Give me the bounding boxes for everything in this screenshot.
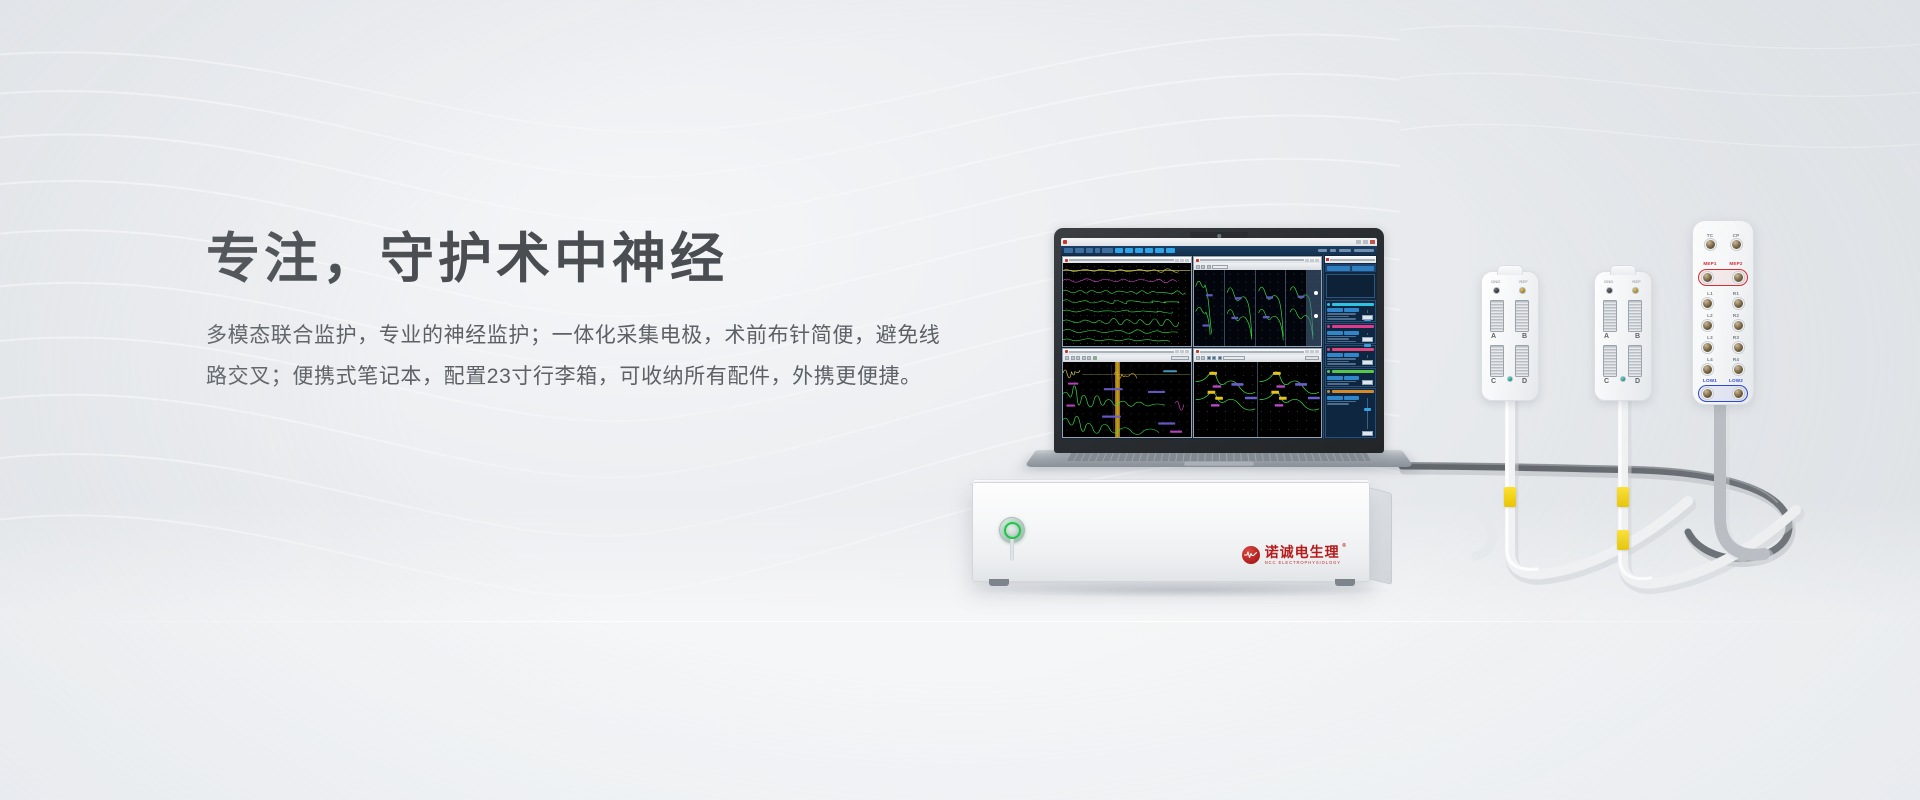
module-readout: [1327, 361, 1349, 363]
port-d[interactable]: [1628, 345, 1642, 377]
gnd-label: GND: [1491, 279, 1501, 284]
pane-mep[interactable]: [1193, 348, 1323, 439]
product-photo-group: 诺诚电生理® NCC ELECTROPHYSIOLOGY GND REF: [0, 0, 1920, 800]
module-gain-slider[interactable]: [1361, 353, 1374, 365]
panel-socket-l3[interactable]: [1702, 342, 1713, 353]
tool-button[interactable]: [1218, 356, 1222, 360]
port-c-label: C: [1604, 378, 1609, 385]
port-b[interactable]: [1515, 300, 1529, 332]
pane-row-bottom: [1062, 348, 1322, 439]
pane-title: [1200, 351, 1305, 353]
ref-label: REF: [1519, 279, 1528, 284]
tool-button[interactable]: [1076, 356, 1080, 360]
toolbar-status-text: [1330, 249, 1336, 252]
amplifier-unit: 诺诚电生理® NCC ELECTROPHYSIOLOGY: [972, 482, 1392, 594]
close-icon[interactable]: [1370, 240, 1375, 244]
port-d-label: D: [1522, 378, 1527, 385]
tool-button[interactable]: [1196, 356, 1200, 360]
mep-traces: [1194, 362, 1322, 438]
tool-field[interactable]: [1171, 356, 1189, 360]
panel-label: R1: [1726, 291, 1746, 296]
emg-triggered-canvas: [1063, 362, 1191, 438]
sidebar-titlebar: [1325, 256, 1376, 263]
pane-close-icon[interactable]: [1185, 350, 1189, 353]
sidebar-action-button[interactable]: [1327, 266, 1350, 271]
panel-socket-r1[interactable]: [1733, 298, 1744, 309]
panel-socket-r4[interactable]: [1733, 364, 1744, 375]
panel-label: MEP2: [1726, 261, 1746, 266]
pane-minimize-icon[interactable]: [1305, 259, 1309, 262]
sidebar-preview: [1326, 274, 1375, 298]
port-a-label: A: [1491, 333, 1496, 340]
brand-name-en: NCC ELECTROPHYSIOLOGY: [1265, 561, 1341, 565]
ssep-waveform-canvas: [1194, 270, 1322, 346]
pane-row-top: [1062, 256, 1322, 347]
pane-toolbar[interactable]: [1063, 355, 1191, 362]
sidebar-action-button[interactable]: [1352, 266, 1375, 271]
tool-button[interactable]: [1201, 356, 1205, 360]
tool-field[interactable]: [1212, 265, 1228, 269]
tool-button[interactable]: [1082, 356, 1086, 360]
tool-button[interactable]: [1201, 265, 1205, 269]
module-readout: [1327, 313, 1356, 315]
app-logo-icon: [1063, 240, 1067, 244]
gnd-pin[interactable]: [1493, 287, 1500, 294]
toolbar-button[interactable]: [1075, 248, 1084, 253]
tool-button[interactable]: [1196, 265, 1200, 269]
tool-field[interactable]: [1223, 356, 1245, 360]
toolbar-button-active[interactable]: [1115, 248, 1123, 253]
panel-label: R2: [1726, 313, 1746, 318]
module-button[interactable]: [1327, 308, 1343, 312]
maximize-icon[interactable]: [1363, 240, 1368, 244]
module-readout: [1327, 341, 1356, 343]
pane-icon: [1065, 350, 1068, 353]
sidebar-actions[interactable]: [1325, 264, 1376, 272]
toolbar-status-text: [1354, 249, 1374, 252]
pane-toolbar[interactable]: [1194, 355, 1322, 362]
gnd-label: GND: [1604, 279, 1614, 284]
panel-socket-mep2[interactable]: [1733, 272, 1744, 283]
pane-emg-triggered[interactable]: [1062, 348, 1192, 439]
tool-button[interactable]: [1065, 356, 1069, 360]
tool-button[interactable]: [1071, 356, 1075, 360]
panel-label: TC: [1700, 233, 1720, 238]
panel-label: LOW1: [1700, 378, 1720, 383]
module-label: [1332, 325, 1374, 328]
emg-triggered-traces: [1063, 362, 1191, 438]
indicator-led-icon: [1620, 376, 1626, 382]
power-button-stem: [1010, 539, 1014, 561]
module-button[interactable]: [1327, 376, 1343, 380]
pane-maximize-icon[interactable]: [1180, 350, 1184, 353]
module-button[interactable]: [1327, 396, 1343, 400]
module-readout: [1327, 363, 1356, 365]
module-baep[interactable]: [1325, 368, 1376, 387]
app-workspace: [1061, 255, 1377, 439]
brand-logo: 诺诚电生理® NCC ELECTROPHYSIOLOGY: [1242, 545, 1341, 565]
panel-label: L2: [1700, 313, 1720, 318]
port-c-label: C: [1491, 378, 1496, 385]
emg-traces: [1063, 263, 1191, 346]
module-readout: [1327, 381, 1356, 383]
emg-waveform-canvas: [1063, 263, 1191, 346]
app-toolbar[interactable]: [1061, 246, 1377, 255]
panel-socket-l2[interactable]: [1702, 320, 1713, 331]
pane-icon: [1196, 259, 1199, 262]
app-titlebar: [1061, 238, 1377, 246]
ssep-traces: [1194, 270, 1322, 346]
pane-close-icon[interactable]: [1185, 259, 1189, 262]
panel-socket-low2[interactable]: [1733, 388, 1744, 399]
hero-banner: 专注，守护术中神经 多模态联合监护，专业的神经监护；一体化采集电极，术前布针简便…: [0, 0, 1920, 800]
ref-label: REF: [1632, 279, 1641, 284]
brand-name-cn: 诺诚电生理®: [1265, 545, 1341, 559]
sidebar-icon: [1326, 258, 1329, 261]
module-button[interactable]: [1344, 308, 1360, 312]
module-gain-slider[interactable]: [1361, 376, 1374, 385]
status-led-icon: [1327, 325, 1330, 328]
module-readout: [1327, 403, 1349, 405]
laptop: [1054, 228, 1384, 488]
module-vep[interactable]: [1325, 388, 1376, 439]
pane-title: [1069, 259, 1174, 261]
module-button[interactable]: [1344, 353, 1360, 357]
pane-minimize-icon[interactable]: [1175, 259, 1179, 262]
tool-button[interactable]: [1212, 356, 1216, 360]
module-readout: [1327, 316, 1349, 318]
module-gain-slider[interactable]: [1361, 308, 1374, 320]
port-b-label: B: [1522, 333, 1527, 340]
pane-toolbar[interactable]: [1194, 263, 1322, 270]
panel-socket[interactable]: [1705, 239, 1716, 250]
panel-label: R4: [1726, 357, 1746, 362]
panel-socket-l4[interactable]: [1702, 364, 1713, 375]
amplifier-side-face: [1368, 487, 1392, 585]
module-label: [1332, 348, 1374, 351]
module-ssep[interactable]: [1325, 345, 1376, 367]
pane-title: [1200, 259, 1305, 261]
tool-button[interactable]: [1207, 265, 1211, 269]
panel-label: LOW2: [1726, 378, 1746, 383]
gnd-pin[interactable]: [1606, 287, 1613, 294]
panel-label: MEP1: [1700, 261, 1720, 266]
panel-socket-l1[interactable]: [1702, 298, 1713, 309]
panel-socket-mep1[interactable]: [1702, 272, 1713, 283]
module-readout: [1327, 318, 1356, 320]
connector-tab: [1497, 265, 1523, 275]
tool-run-button[interactable]: [1093, 356, 1097, 360]
panel-socket-r3[interactable]: [1733, 342, 1744, 353]
module-button[interactable]: [1327, 331, 1343, 335]
toolbar-button-active[interactable]: [1125, 248, 1133, 253]
toolbar-button[interactable]: [1086, 248, 1093, 253]
pane-icon: [1065, 259, 1068, 262]
module-label: [1332, 303, 1374, 306]
laptop-lid: [1054, 228, 1384, 453]
module-readout: [1327, 358, 1356, 360]
module-button[interactable]: [1344, 376, 1360, 380]
connector-tab: [1610, 265, 1636, 275]
module-emg[interactable]: [1325, 300, 1376, 322]
status-led-icon: [1327, 370, 1330, 373]
power-led-icon: [1004, 522, 1021, 539]
panel-label: R3: [1726, 335, 1746, 340]
toolbar-button[interactable]: [1102, 248, 1113, 253]
tool-field[interactable]: [1305, 356, 1319, 360]
module-mep[interactable]: [1325, 323, 1376, 345]
pane-maximize-icon[interactable]: [1310, 350, 1314, 353]
trackpad: [1184, 462, 1254, 466]
module-gain-slider[interactable]: [1361, 331, 1374, 343]
mep-waveform-canvas: [1194, 362, 1322, 438]
modality-sidebar[interactable]: [1323, 255, 1377, 439]
panel-label: L4: [1700, 357, 1720, 362]
port-c[interactable]: [1603, 345, 1617, 377]
module-readout: [1327, 336, 1356, 338]
indicator-led-icon: [1507, 376, 1513, 382]
pane-minimize-icon[interactable]: [1305, 350, 1309, 353]
pane-emg-free-run[interactable]: [1062, 256, 1192, 347]
panel-socket-r2[interactable]: [1733, 320, 1744, 331]
pane-maximize-icon[interactable]: [1180, 259, 1184, 262]
toolbar-button-active[interactable]: [1135, 248, 1143, 253]
pane-icon: [1196, 350, 1199, 353]
ref-pin[interactable]: [1519, 287, 1526, 294]
module-gain-slider[interactable]: [1361, 396, 1374, 437]
port-a[interactable]: [1603, 300, 1617, 332]
sidebar-title: [1330, 259, 1375, 261]
module-readout: [1327, 383, 1349, 385]
module-button[interactable]: [1327, 353, 1343, 357]
electrode-connector-left[interactable]: GND REF A B C D: [1481, 271, 1539, 401]
pane-grid: [1061, 255, 1323, 439]
port-a[interactable]: [1490, 300, 1504, 332]
panel-label: L1: [1700, 291, 1720, 296]
module-button[interactable]: [1344, 331, 1360, 335]
pane-title: [1069, 351, 1174, 353]
ref-pin[interactable]: [1632, 287, 1639, 294]
port-c[interactable]: [1490, 345, 1504, 377]
port-d-label: D: [1635, 378, 1640, 385]
toolbar-status-text: [1339, 249, 1351, 252]
toolbar-button-active[interactable]: [1166, 248, 1175, 253]
status-led-icon: [1327, 390, 1330, 393]
tool-button[interactable]: [1207, 356, 1211, 360]
cable-marker-band: [1504, 487, 1516, 507]
module-readout: [1327, 401, 1356, 403]
tool-button[interactable]: [1087, 356, 1091, 360]
toolbar-button[interactable]: [1095, 248, 1100, 253]
toolbar-button-active[interactable]: [1155, 248, 1164, 253]
module-readout: [1327, 338, 1349, 340]
minimize-icon[interactable]: [1356, 240, 1361, 244]
pane-minimize-icon[interactable]: [1175, 350, 1179, 353]
toolbar-button-active[interactable]: [1145, 248, 1153, 253]
module-button[interactable]: [1344, 396, 1360, 400]
port-b-label: B: [1635, 333, 1640, 340]
pane-ssep-stacked[interactable]: [1193, 256, 1323, 347]
status-led-icon: [1327, 348, 1330, 351]
keyboard-keys: [1067, 452, 1372, 461]
panel-socket[interactable]: [1731, 239, 1742, 250]
amplifier-front-panel: 诺诚电生理® NCC ELECTROPHYSIOLOGY: [972, 482, 1370, 582]
module-label: [1332, 370, 1374, 373]
cable-marker-band: [1617, 487, 1629, 507]
panel-label: CP: [1726, 233, 1746, 238]
panel-label: L3: [1700, 335, 1720, 340]
pane-close-icon[interactable]: [1315, 259, 1319, 262]
laptop-screen: [1061, 238, 1377, 439]
cable-marker-band: [1617, 530, 1629, 550]
port-b[interactable]: [1628, 300, 1642, 332]
pane-close-icon[interactable]: [1315, 350, 1319, 353]
toolbar-button[interactable]: [1064, 248, 1073, 253]
pane-maximize-icon[interactable]: [1310, 259, 1314, 262]
port-d[interactable]: [1515, 345, 1529, 377]
toolbar-status-text: [1318, 249, 1327, 252]
panel-socket-low1[interactable]: [1702, 388, 1713, 399]
heartbeat-wave-icon: [1242, 546, 1260, 564]
electrode-connector-right[interactable]: GND REF A B C D: [1594, 271, 1652, 401]
multi-pin-electrode-panel[interactable]: TC CP MEP1 MEP2: [1692, 220, 1754, 405]
trademark-symbol: ®: [1342, 544, 1347, 549]
status-led-icon: [1327, 303, 1330, 306]
port-a-label: A: [1604, 333, 1609, 340]
module-label: [1332, 390, 1374, 393]
amplifier-shadow: [966, 582, 1398, 598]
